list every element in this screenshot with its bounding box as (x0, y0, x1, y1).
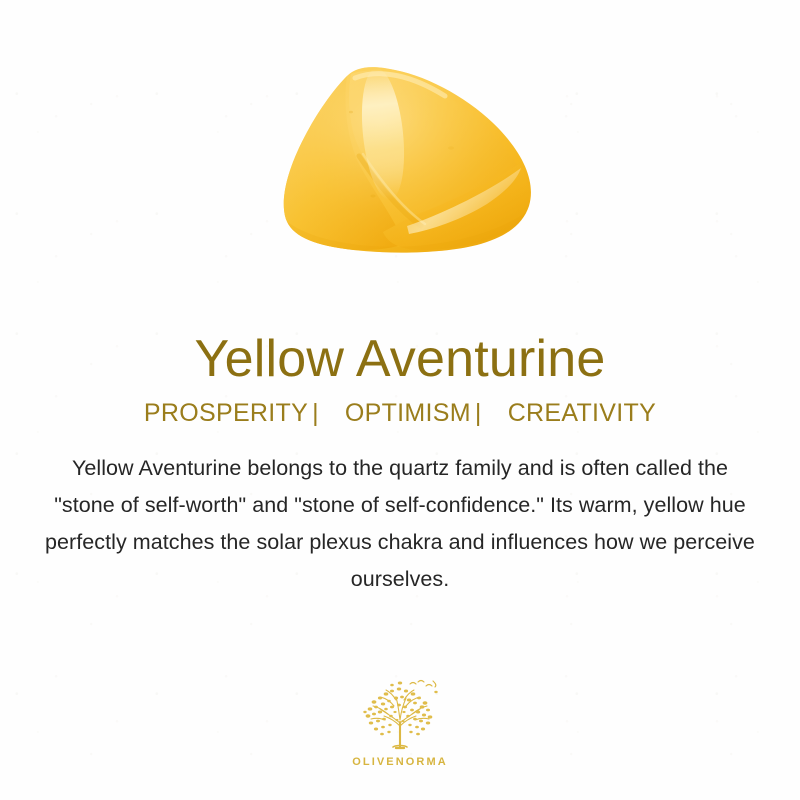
keyword-prosperity: PROSPERITY (144, 398, 308, 428)
brand-logo: OLIVENORMA (0, 676, 800, 768)
product-info-card: Yellow Aventurine PROSPERITY|OPTIMISM|CR… (0, 0, 800, 800)
tree-of-life-icon (352, 676, 448, 754)
product-description: Yellow Aventurine belongs to the quartz … (41, 450, 759, 598)
stone-body (255, 30, 555, 270)
stone-inclusion (349, 111, 353, 114)
brand-name: OLIVENORMA (0, 756, 800, 768)
bird-icons (410, 681, 436, 688)
product-image-area (0, 0, 800, 300)
page-title: Yellow Aventurine (0, 330, 800, 388)
yellow-aventurine-stone-image (255, 30, 555, 270)
product-text-block: Yellow Aventurine PROSPERITY|OPTIMISM|CR… (0, 330, 800, 598)
stone-inclusion (370, 195, 375, 198)
keyword-optimism: OPTIMISM (345, 398, 471, 428)
keyword-list: PROSPERITY|OPTIMISM|CREATIVITY (0, 398, 800, 428)
keyword-separator: | (308, 398, 325, 428)
keyword-creativity: CREATIVITY (508, 398, 656, 428)
stone-inclusion (448, 146, 454, 149)
keyword-separator: | (471, 398, 488, 428)
